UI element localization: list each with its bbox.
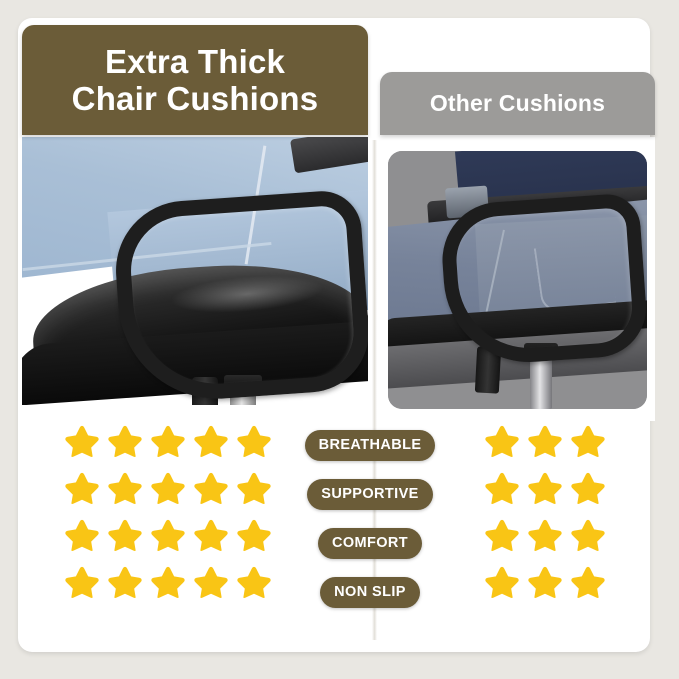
star-icon — [528, 565, 562, 599]
star-icon — [528, 424, 562, 458]
feature-pill-list: BREATHABLESUPPORTIVECOMFORTNON SLIP — [290, 430, 450, 608]
star-cell — [232, 565, 275, 599]
star-icon — [571, 518, 605, 552]
header-extra-thick-line1: Extra Thick — [72, 43, 319, 80]
product-photo-extra-thick — [22, 137, 368, 405]
star-cell — [146, 424, 189, 458]
star-icon — [571, 471, 605, 505]
star-icon — [528, 518, 562, 552]
star-cell — [523, 471, 566, 505]
star-icon — [108, 518, 142, 552]
star-icon — [65, 471, 99, 505]
header-extra-thick: Extra Thick Chair Cushions — [22, 25, 368, 135]
star-icon — [194, 518, 228, 552]
star-cell — [189, 471, 232, 505]
star-icon — [151, 424, 185, 458]
header-extra-thick-line2: Chair Cushions — [72, 80, 319, 117]
star-icon — [151, 565, 185, 599]
star-cell — [103, 471, 146, 505]
star-icon — [108, 565, 142, 599]
star-cell — [60, 424, 103, 458]
star-cell — [189, 424, 232, 458]
star-icon — [237, 471, 271, 505]
star-cell — [232, 424, 275, 458]
comparison-infographic: Extra Thick Chair Cushions Other Cushion… — [0, 0, 679, 679]
star-cell — [146, 518, 189, 552]
star-cell — [567, 424, 610, 458]
star-cell — [480, 565, 523, 599]
star-icon — [571, 424, 605, 458]
rating-stars-extra-thick — [60, 424, 275, 599]
star-cell — [567, 565, 610, 599]
feature-pill: COMFORT — [318, 528, 422, 559]
star-cell — [480, 424, 523, 458]
product-photo-other-cushion — [380, 137, 655, 421]
star-icon — [151, 471, 185, 505]
feature-pill: BREATHABLE — [305, 430, 436, 461]
star-cell — [60, 471, 103, 505]
star-cell — [523, 565, 566, 599]
star-icon — [485, 518, 519, 552]
star-icon — [65, 565, 99, 599]
star-cell — [103, 518, 146, 552]
star-cell — [523, 424, 566, 458]
star-icon — [528, 471, 562, 505]
photo-frame — [388, 151, 647, 409]
star-cell — [480, 518, 523, 552]
rating-stars-other — [480, 424, 610, 599]
star-cell — [232, 471, 275, 505]
star-icon — [571, 565, 605, 599]
star-icon — [108, 471, 142, 505]
star-cell — [567, 471, 610, 505]
header-other-cushions-label: Other Cushions — [430, 90, 605, 117]
star-icon — [485, 565, 519, 599]
star-cell — [60, 518, 103, 552]
star-cell — [103, 565, 146, 599]
star-icon — [237, 518, 271, 552]
star-icon — [194, 471, 228, 505]
star-icon — [194, 565, 228, 599]
feature-pill: SUPPORTIVE — [307, 479, 432, 510]
header-other-cushions: Other Cushions — [380, 72, 655, 135]
star-cell — [480, 471, 523, 505]
star-cell — [146, 471, 189, 505]
star-icon — [237, 424, 271, 458]
star-icon — [65, 424, 99, 458]
photo-chair-armrest — [111, 189, 368, 405]
star-icon — [485, 424, 519, 458]
star-cell — [60, 565, 103, 599]
star-cell — [567, 518, 610, 552]
star-cell — [146, 565, 189, 599]
star-cell — [523, 518, 566, 552]
star-cell — [189, 565, 232, 599]
feature-pill: NON SLIP — [320, 577, 420, 608]
star-icon — [485, 471, 519, 505]
star-cell — [189, 518, 232, 552]
star-cell — [103, 424, 146, 458]
star-icon — [194, 424, 228, 458]
star-icon — [151, 518, 185, 552]
star-icon — [237, 565, 271, 599]
star-cell — [232, 518, 275, 552]
star-icon — [65, 518, 99, 552]
star-icon — [108, 424, 142, 458]
